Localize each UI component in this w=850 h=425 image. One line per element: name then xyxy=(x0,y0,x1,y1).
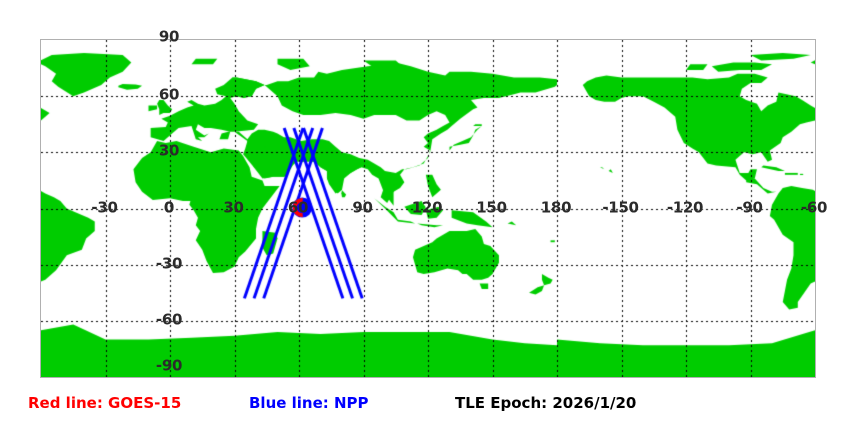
lat-tick--30: -30 xyxy=(156,256,182,271)
lon-tick-120: 120 xyxy=(412,200,442,215)
lon-tick--90: -90 xyxy=(736,200,762,215)
lon-tick-150: 150 xyxy=(476,200,506,215)
lon-tick-90: 90 xyxy=(352,200,372,215)
lat-tick-90: 90 xyxy=(159,30,179,45)
lon-tick--120: -120 xyxy=(667,200,703,215)
lon-tick-30: 30 xyxy=(223,200,243,215)
lon-tick--150: -150 xyxy=(602,200,638,215)
tle-epoch-label: TLE Epoch: 2026/1/20 xyxy=(455,396,636,411)
lon-tick-60: 60 xyxy=(288,200,308,215)
lon-tick--60: -60 xyxy=(801,200,827,215)
lon-tick--30: -30 xyxy=(91,200,117,215)
lat-tick--60: -60 xyxy=(156,312,182,327)
lat-tick-60: 60 xyxy=(159,88,179,103)
lon-tick-180: 180 xyxy=(541,200,571,215)
lat-tick--90: -90 xyxy=(156,359,182,374)
legend-red-line-goes15: Red line: GOES-15 xyxy=(28,396,181,411)
legend-caption-row: Red line: GOES-15 Blue line: NPP TLE Epo… xyxy=(0,396,850,420)
legend-blue-line-npp: Blue line: NPP xyxy=(249,396,369,411)
lat-tick-30: 30 xyxy=(159,144,179,159)
lat-tick-0: 0 xyxy=(164,200,174,215)
